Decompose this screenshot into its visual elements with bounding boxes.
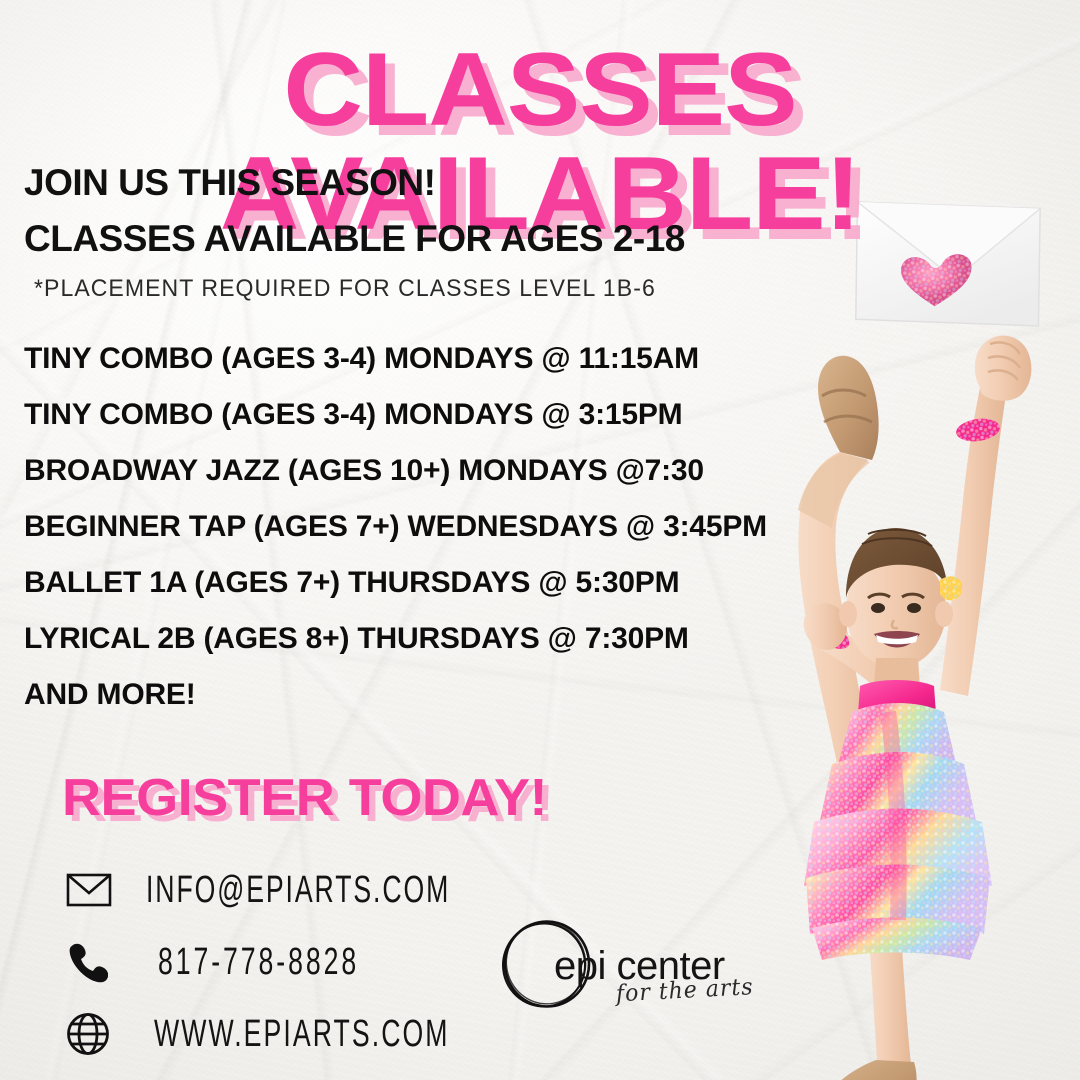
website-value: WWW.EPIARTS.COM: [154, 1012, 450, 1056]
list-item: AND MORE!: [24, 680, 764, 710]
page-title: CLASSES AVAILABLE!: [0, 38, 1080, 246]
list-item: BALLET 1A (AGES 7+) THURSDAYS @ 5:30PM: [24, 568, 764, 598]
contact-row-phone[interactable]: 817-778-8828: [66, 926, 486, 998]
contact-block: INFO@EPIARTS.COM 817-778-8828 WWW.EP: [66, 854, 486, 1070]
contact-row-email[interactable]: INFO@EPIARTS.COM: [66, 854, 486, 926]
list-item: TINY COMBO (AGES 3-4) MONDAYS @ 3:15PM: [24, 400, 764, 430]
class-list: TINY COMBO (AGES 3-4) MONDAYS @ 11:15AM …: [24, 344, 764, 736]
list-item: BROADWAY JAZZ (AGES 10+) MONDAYS @7:30: [24, 456, 764, 486]
phone-icon: [66, 941, 122, 983]
list-item: BEGINNER TAP (AGES 7+) WEDNESDAYS @ 3:45…: [24, 512, 764, 542]
list-item: LYRICAL 2B (AGES 8+) THURSDAYS @ 7:30PM: [24, 624, 764, 654]
envelope-icon: [66, 873, 122, 907]
logo-word-epi: epi: [554, 944, 606, 988]
subheading-ages: CLASSES AVAILABLE FOR AGES 2-18: [24, 218, 685, 260]
email-value: INFO@EPIARTS.COM: [146, 868, 450, 912]
phone-value: 817-778-8828: [158, 940, 359, 984]
poster-canvas: CLASSES AVAILABLE! JOIN US THIS SEASON! …: [0, 0, 1080, 1080]
globe-icon: [66, 1012, 122, 1056]
headline-container: CLASSES AVAILABLE!: [0, 38, 1080, 246]
epicenter-logo[interactable]: epi center for the arts: [498, 908, 748, 1018]
subheading-season: JOIN US THIS SEASON!: [24, 162, 435, 204]
placement-note: *PLACEMENT REQUIRED FOR CLASSES LEVEL 1B…: [34, 275, 656, 303]
register-cta: REGISTER TODAY!: [62, 768, 547, 828]
contact-row-website[interactable]: WWW.EPIARTS.COM: [66, 998, 486, 1070]
list-item: TINY COMBO (AGES 3-4) MONDAYS @ 11:15AM: [24, 344, 764, 374]
